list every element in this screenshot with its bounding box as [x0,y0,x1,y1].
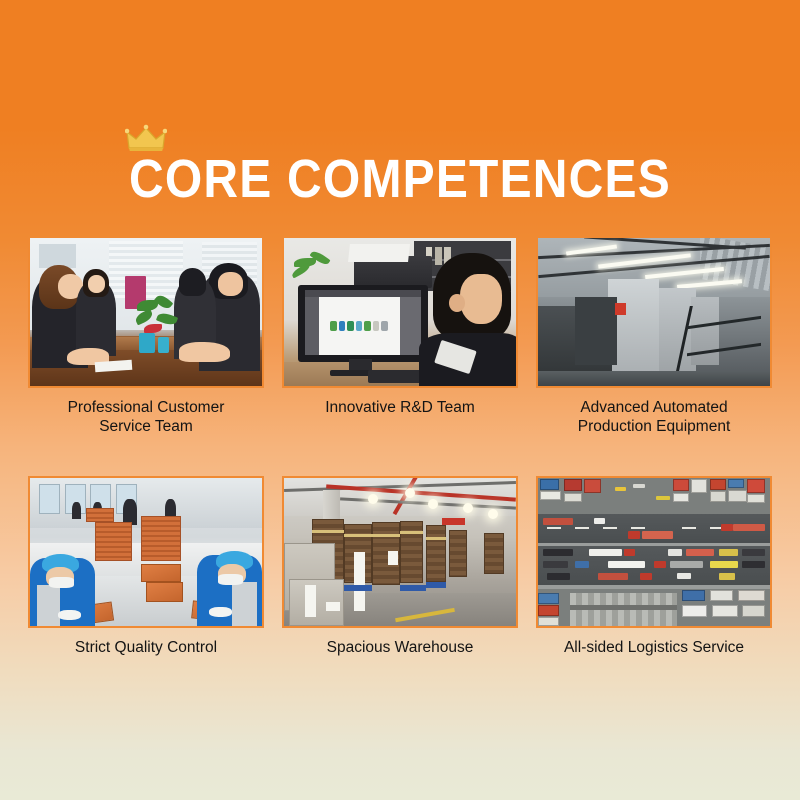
competence-grid: Professional Customer Service Team [28,236,772,657]
meeting-room-photo [28,236,264,388]
card-caption: All-sided Logistics Service [536,638,772,657]
card-caption: Spacious Warehouse [282,638,518,657]
card-caption: Strict Quality Control [28,638,264,657]
grid-row-2: Strict Quality Control [28,476,772,657]
page-header: CORE COMPETENCES [0,150,800,204]
card-caption: Professional Customer Service Team [28,398,264,436]
printing-press-machinery-photo [536,236,772,388]
designer-at-monitor-photo [282,236,518,388]
workers-inspecting-boxes-photo [28,476,264,628]
card-spacious-warehouse[interactable]: Spacious Warehouse [282,476,518,657]
grid-row-1: Professional Customer Service Team [28,236,772,436]
crown-icon [125,124,167,154]
warehouse-pallets-photo [282,476,518,628]
card-caption: Innovative R&D Team [282,398,518,417]
card-caption: Advanced Automated Production Equipment [536,398,772,436]
aerial-container-yard-photo [536,476,772,628]
card-innovative-rd-team[interactable]: Innovative R&D Team [282,236,518,436]
card-all-sided-logistics-service[interactable]: All-sided Logistics Service [536,476,772,657]
card-strict-quality-control[interactable]: Strict Quality Control [28,476,264,657]
page-title: CORE COMPETENCES [129,150,671,210]
card-advanced-automated-production-equipment[interactable]: Advanced Automated Production Equipment [536,236,772,436]
card-professional-customer-service-team[interactable]: Professional Customer Service Team [28,236,264,436]
